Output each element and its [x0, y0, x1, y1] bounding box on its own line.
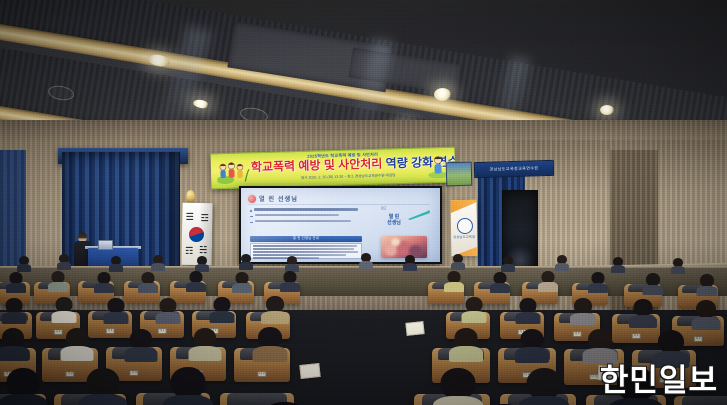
attendee-shoulders — [671, 266, 685, 274]
downlight-5 — [600, 105, 614, 115]
attendee-shoulders — [280, 282, 300, 292]
teal-arrow-icon — [407, 210, 431, 220]
attendee — [540, 271, 556, 287]
attendee — [446, 271, 462, 287]
attendee-shoulders — [57, 262, 71, 270]
attendee — [240, 254, 252, 266]
slide-bullet-item — [250, 220, 362, 223]
attendee-head — [194, 328, 216, 348]
attendee — [0, 328, 26, 354]
attendee-head — [520, 329, 543, 349]
attendee-shoulders — [189, 346, 222, 361]
attendee — [656, 330, 686, 360]
slide-block-header-label: 열 린 선생님 안내 — [250, 236, 362, 242]
attendee — [18, 256, 30, 268]
attendee-head — [160, 298, 177, 313]
attendee — [586, 329, 614, 357]
attendee — [158, 298, 178, 318]
attendee-shoulders — [588, 283, 608, 293]
slide-side-caption: 열 린선생님 — [381, 214, 407, 226]
seat-number-plate: 가 3 — [106, 328, 115, 334]
attendee-head — [454, 328, 477, 348]
attendee-shoulders — [570, 313, 596, 325]
seat-number-plate: 가 2 — [65, 371, 74, 377]
attendee-shoulders — [138, 283, 158, 293]
attendee — [524, 368, 564, 405]
attendee — [58, 254, 70, 266]
laptop-on-podium — [98, 240, 113, 250]
attendee-head — [258, 327, 282, 348]
attendee-shoulders — [642, 285, 663, 295]
attendee-shoulders — [210, 311, 235, 323]
attendee — [168, 367, 208, 405]
banner-title-red: 학교폭력 예방 및 사안처리 — [251, 157, 383, 175]
attendee-shoulders — [490, 283, 510, 293]
bullet-dot-icon — [250, 209, 253, 212]
attendee — [192, 328, 218, 354]
attendee-shoulders — [555, 263, 569, 271]
block-body-line — [253, 245, 357, 247]
attendee — [438, 368, 478, 405]
attendee-head — [171, 367, 206, 398]
seat-number-plate: 가 2 — [54, 329, 63, 335]
attendee — [50, 271, 66, 287]
seat-number-plate: 라 1 — [632, 333, 641, 339]
venue-sign-label: 경상남도교육청교육연수원 — [475, 161, 553, 177]
attendee-shoulders — [48, 282, 68, 292]
attendee-shoulders — [6, 283, 26, 293]
attendee — [96, 272, 112, 288]
attendee-shoulders — [156, 312, 181, 324]
attendee — [84, 368, 122, 405]
attendee-shoulders — [232, 283, 252, 293]
slide-bullet-list — [250, 208, 362, 225]
attendee — [672, 258, 684, 270]
event-banner: 2025학년도 학교폭력 예방 및 사안처리 학교폭력 예방 및 사안처리 역량… — [211, 147, 456, 190]
attendee — [234, 272, 250, 288]
attendee — [128, 329, 154, 355]
attendee — [54, 297, 74, 317]
attendee-head — [634, 299, 653, 316]
bullet-text-blur — [255, 214, 339, 216]
attendee-head — [520, 298, 537, 313]
slide-title: 열 린 선생님 — [259, 194, 298, 203]
attendee-head — [6, 298, 23, 313]
attendee-shoulders — [79, 394, 127, 405]
attendee-shoulders — [0, 394, 47, 405]
attendee — [110, 256, 122, 268]
seat-number-plate: 나 2 — [257, 371, 266, 377]
bullet-text-blur — [255, 220, 351, 222]
attendee-shoulders — [125, 347, 158, 362]
attendee-head — [130, 329, 152, 349]
banner-subtext: 일시 2025. 2. 25.(화) 13:30 ~ 장소 경상남도교육연수원 … — [263, 172, 433, 182]
attendee-head — [658, 330, 684, 353]
slide-title-row: 열 린 선생님 — [248, 193, 430, 205]
attendee — [4, 368, 42, 405]
attendee — [8, 272, 24, 288]
attendee-shoulders — [104, 312, 129, 324]
attendee-shoulders — [462, 311, 487, 323]
attendee-shoulders — [109, 264, 123, 272]
attendee-head — [108, 298, 125, 313]
attendee — [452, 254, 464, 266]
attendee-shoulders — [501, 264, 515, 272]
flag-finial-ornament — [186, 190, 195, 202]
slide-bullet-item — [250, 208, 362, 212]
attendee — [152, 255, 164, 267]
attendee-shoulders — [2, 312, 27, 324]
institution-emblem-icon — [457, 218, 473, 234]
attendee-head — [56, 297, 73, 312]
attendee-shoulders — [61, 346, 94, 361]
seat-number-plate: 다 3 — [573, 331, 582, 337]
attendee-shoulders — [186, 282, 206, 292]
attendee-head — [7, 368, 40, 397]
attendee-shoulders — [52, 311, 77, 323]
attendee-head — [266, 296, 284, 312]
attendee — [464, 297, 484, 317]
slide-bullet-item — [250, 214, 362, 217]
institution-flag-label: 경상남도교육청 — [451, 234, 477, 239]
attendee — [140, 272, 156, 288]
attendee-shoulders — [611, 265, 625, 273]
attendee-head — [66, 328, 88, 348]
slide-tiny-note: 참고 — [381, 206, 387, 210]
attendee — [404, 255, 416, 267]
seat-number-plate: 나 1 — [158, 328, 167, 334]
attendee — [694, 300, 717, 323]
attendee — [502, 256, 514, 268]
attendee-head — [441, 368, 476, 399]
attendee — [518, 298, 538, 318]
attendee-shoulders — [629, 315, 657, 328]
slide-bullet-badge-icon — [248, 195, 256, 203]
attendee-shoulders — [253, 346, 288, 362]
attendee-shoulders — [444, 282, 464, 292]
attendee-shoulders — [609, 398, 663, 405]
attendee — [4, 298, 24, 318]
attendee-shoulders — [583, 348, 618, 364]
bullet-dash-icon — [250, 222, 253, 223]
attendee — [286, 256, 298, 268]
attendee — [572, 298, 593, 319]
attendee-head — [2, 328, 24, 348]
attendee — [492, 272, 508, 288]
attendee — [212, 297, 232, 317]
attendee-shoulders — [239, 262, 253, 270]
flag-band — [451, 200, 478, 214]
attendee-shoulders — [691, 317, 720, 330]
attendee-head — [588, 329, 612, 350]
attendee — [556, 255, 568, 267]
attendee-shoulders — [163, 395, 213, 405]
attendee-shoulders — [261, 311, 289, 324]
attendee — [360, 253, 372, 265]
attendee — [518, 329, 545, 356]
attendee — [698, 274, 715, 291]
attendee-shoulders — [451, 262, 465, 270]
attendee-shoulders — [17, 264, 31, 272]
attendee-raising-hand — [264, 296, 286, 318]
attendee-shoulders — [515, 347, 549, 363]
attendee — [632, 299, 654, 321]
attendee-shoulders — [516, 312, 541, 324]
children-illustration-icon — [217, 157, 252, 184]
attendee-shoulders — [403, 263, 417, 271]
attendee-head — [527, 368, 562, 399]
institution-flag: 경상남도교육청 — [451, 200, 478, 256]
attendee — [196, 256, 208, 268]
slide-block-header: 열 린 선생님 안내 — [250, 236, 362, 242]
seat-number-plate: 가 3 — [129, 370, 138, 376]
attendee-head — [214, 297, 231, 312]
publisher-watermark: 한민일보 — [600, 365, 718, 396]
venue-sign: 경상남도교육청교육연수원 — [474, 160, 554, 178]
handout-paper — [405, 321, 424, 336]
attendee — [612, 257, 624, 269]
photograph-root: 2025학년도 학교폭력 예방 및 사안처리 학교폭력 예방 및 사안처리 역량… — [0, 0, 727, 405]
attendee-head — [696, 300, 716, 318]
attendee-head — [574, 298, 592, 314]
bullet-text-blur — [254, 208, 358, 211]
attendee-shoulders — [538, 282, 558, 292]
attendee-shoulders — [449, 346, 483, 362]
attendee — [106, 298, 126, 318]
attendee — [644, 273, 661, 290]
attendee — [452, 328, 479, 355]
attendee — [256, 327, 284, 355]
seat-number-plate: 라 2 — [694, 336, 703, 342]
handout-paper — [299, 363, 320, 379]
attendee-shoulders — [0, 346, 30, 361]
attendee-shoulders — [359, 261, 373, 269]
attendee — [282, 271, 298, 287]
attendee-shoulders — [151, 263, 165, 271]
photo-blob — [391, 238, 400, 246]
wall-small-picture — [446, 162, 473, 187]
attendee-shoulders — [696, 286, 717, 296]
attendee — [188, 271, 204, 287]
attendee-head — [466, 297, 483, 312]
downlight-3 — [434, 88, 451, 101]
attendee — [64, 328, 90, 354]
attendee-shoulders — [94, 283, 114, 293]
attendee — [590, 272, 606, 288]
bullet-dash-icon — [250, 216, 253, 217]
attendee-head — [87, 368, 120, 397]
